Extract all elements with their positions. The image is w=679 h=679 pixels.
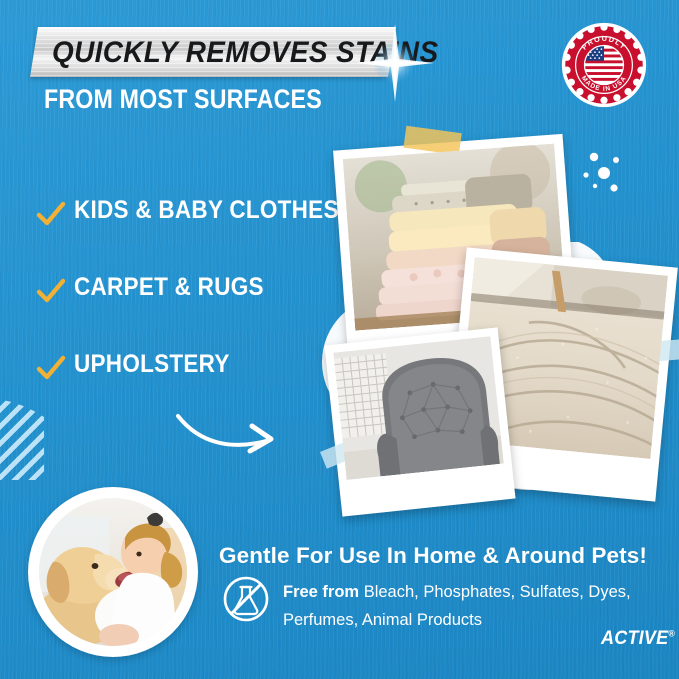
made-in-usa-badge: PROUDLY MADE IN USA [561,22,647,108]
page-title: QUICKLY REMOVES STAINS [52,30,359,75]
checkmark-icon [36,200,66,230]
photo-upholstered-chair [324,327,515,516]
list-item: CARPET & RUGS [36,273,336,350]
bubble-dots-decor [578,148,630,198]
sub-headline: FROM MOST SURFACES [44,84,322,115]
free-from-text: Free from Bleach, Phosphates, Sulfates, … [283,578,655,634]
photo-image [333,336,504,480]
list-item-label: KIDS & BABY CLOTHES [74,196,339,225]
free-from-label: Free from [283,583,359,601]
list-item: KIDS & BABY CLOTHES [36,196,336,273]
brand-logo: ACTIVE® [601,628,675,650]
photo-image [39,498,187,646]
brand-mark: ® [668,629,675,639]
brand-name: ACTIVE [601,628,668,649]
checkmark-icon [36,354,66,384]
gentle-headline: Gentle For Use In Home & Around Pets! [219,543,647,569]
surfaces-checklist: KIDS & BABY CLOTHES CARPET & RUGS UPHOLS… [36,196,336,427]
list-item-label: UPHOLSTERY [74,350,230,379]
photo-girl-with-dog [28,487,198,657]
no-chemicals-flask-icon [222,575,270,623]
checkmark-icon [36,277,66,307]
list-item-label: CARPET & RUGS [74,273,264,302]
curved-arrow-right-icon [174,410,284,462]
infographic-root: QUICKLY REMOVES STAINS FROM MOST SURFACE… [0,0,679,679]
